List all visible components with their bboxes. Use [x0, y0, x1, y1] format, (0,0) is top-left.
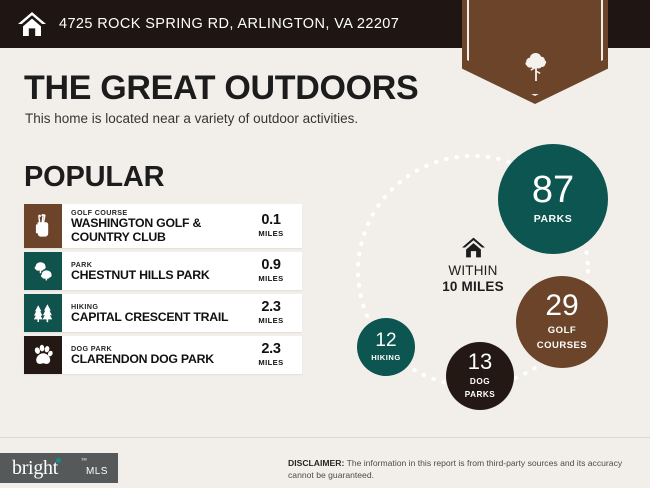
list-item-body: DOG PARK CLARENDON DOG PARK 2.3 MILES — [62, 336, 302, 374]
home-icon — [414, 236, 532, 259]
distance-value: 0.9 — [252, 258, 290, 273]
footer-divider — [0, 437, 650, 438]
bright-logo-word: bright — [12, 457, 58, 480]
diagram-center: WITHIN 10 MILES — [414, 236, 532, 295]
list-item-texts: HIKING CAPITAL CRESCENT TRAIL — [71, 302, 248, 325]
bubble-dog-value: 13 — [468, 352, 492, 373]
page-subtitle: This home is located near a variety of o… — [25, 111, 358, 126]
bubble-hiking-value: 12 — [375, 332, 396, 350]
distance-unit: MILES — [252, 228, 290, 239]
distance-unit: MILES — [252, 357, 290, 368]
bubble-hiking-label: HIKING — [371, 354, 401, 363]
property-address: 4725 ROCK SPRING RD, ARLINGTON, VA 22207 — [59, 16, 399, 32]
bright-logo-dot — [56, 458, 61, 463]
bubble-golf-value: 29 — [545, 292, 578, 321]
list-item[interactable]: PARK CHESTNUT HILLS PARK 0.9 MILES — [24, 252, 302, 290]
list-item-body: GOLF COURSE WASHINGTON GOLF & COUNTRY CL… — [62, 204, 302, 248]
distance-unit: MILES — [252, 315, 290, 326]
amenities-bubble-diagram: 87 PARKS 29 GOLF COURSES 13 DOG PARKS 12… — [330, 128, 650, 418]
outdoor-report-page: 4725 ROCK SPRING RD, ARLINGTON, VA 22207… — [0, 0, 650, 488]
bubble-hiking[interactable]: 12 HIKING — [357, 318, 415, 376]
disclaimer: DISCLAIMER: The information in this repo… — [288, 458, 640, 481]
list-item-distance: 0.1 MILES — [248, 213, 298, 239]
list-item[interactable]: DOG PARK CLARENDON DOG PARK 2.3 MILES — [24, 336, 302, 374]
bright-logo-mls: MLS — [86, 466, 108, 477]
list-item-body: HIKING CAPITAL CRESCENT TRAIL 2.3 MILES — [62, 294, 302, 332]
list-item-texts: GOLF COURSE WASHINGTON GOLF & COUNTRY CL… — [71, 208, 248, 245]
bubble-dog-label-line1: DOG — [470, 377, 490, 386]
list-item[interactable]: GOLF COURSE WASHINGTON GOLF & COUNTRY CL… — [24, 204, 302, 248]
bubble-parks-label: PARKS — [534, 214, 572, 226]
tree-icon — [524, 52, 548, 82]
center-label-line1: WITHIN — [414, 263, 532, 279]
list-item-name: CAPITAL CRESCENT TRAIL — [71, 311, 248, 325]
distance-unit: MILES — [252, 273, 290, 284]
list-item-distance: 2.3 MILES — [248, 342, 298, 368]
bubble-dog-parks[interactable]: 13 DOG PARKS — [446, 342, 514, 410]
distance-value: 0.1 — [252, 213, 290, 228]
list-item-name: CHESTNUT HILLS PARK — [71, 269, 248, 283]
list-item-distance: 2.3 MILES — [248, 300, 298, 326]
bubble-golf-label-line2: COURSES — [537, 341, 587, 352]
pine-trees-icon — [24, 294, 62, 332]
popular-list: GOLF COURSE WASHINGTON GOLF & COUNTRY CL… — [24, 204, 302, 378]
list-item-name: CLARENDON DOG PARK — [71, 353, 248, 367]
bubble-dog-label-line2: PARKS — [465, 390, 496, 399]
distance-value: 2.3 — [252, 342, 290, 357]
bubble-parks-value: 87 — [532, 172, 574, 208]
list-item-texts: PARK CHESTNUT HILLS PARK — [71, 260, 248, 283]
home-icon — [17, 10, 47, 38]
center-label-line2: 10 MILES — [414, 279, 532, 295]
list-item-name: WASHINGTON GOLF & COUNTRY CLUB — [71, 217, 248, 245]
list-item-distance: 0.9 MILES — [248, 258, 298, 284]
disclaimer-label: DISCLAIMER: — [288, 458, 344, 468]
golf-bag-icon — [24, 204, 62, 248]
list-item[interactable]: HIKING CAPITAL CRESCENT TRAIL 2.3 MILES — [24, 294, 302, 332]
paw-print-icon — [24, 336, 62, 374]
park-trees-icon — [24, 252, 62, 290]
page-title: THE GREAT OUTDOORS — [24, 69, 418, 108]
distance-value: 2.3 — [252, 300, 290, 315]
popular-section-heading: POPULAR — [24, 161, 164, 194]
list-item-texts: DOG PARK CLARENDON DOG PARK — [71, 344, 248, 367]
list-item-body: PARK CHESTNUT HILLS PARK 0.9 MILES — [62, 252, 302, 290]
bright-logo-trademark: ™ — [81, 458, 87, 464]
bubble-golf-label-line1: GOLF — [548, 326, 576, 337]
